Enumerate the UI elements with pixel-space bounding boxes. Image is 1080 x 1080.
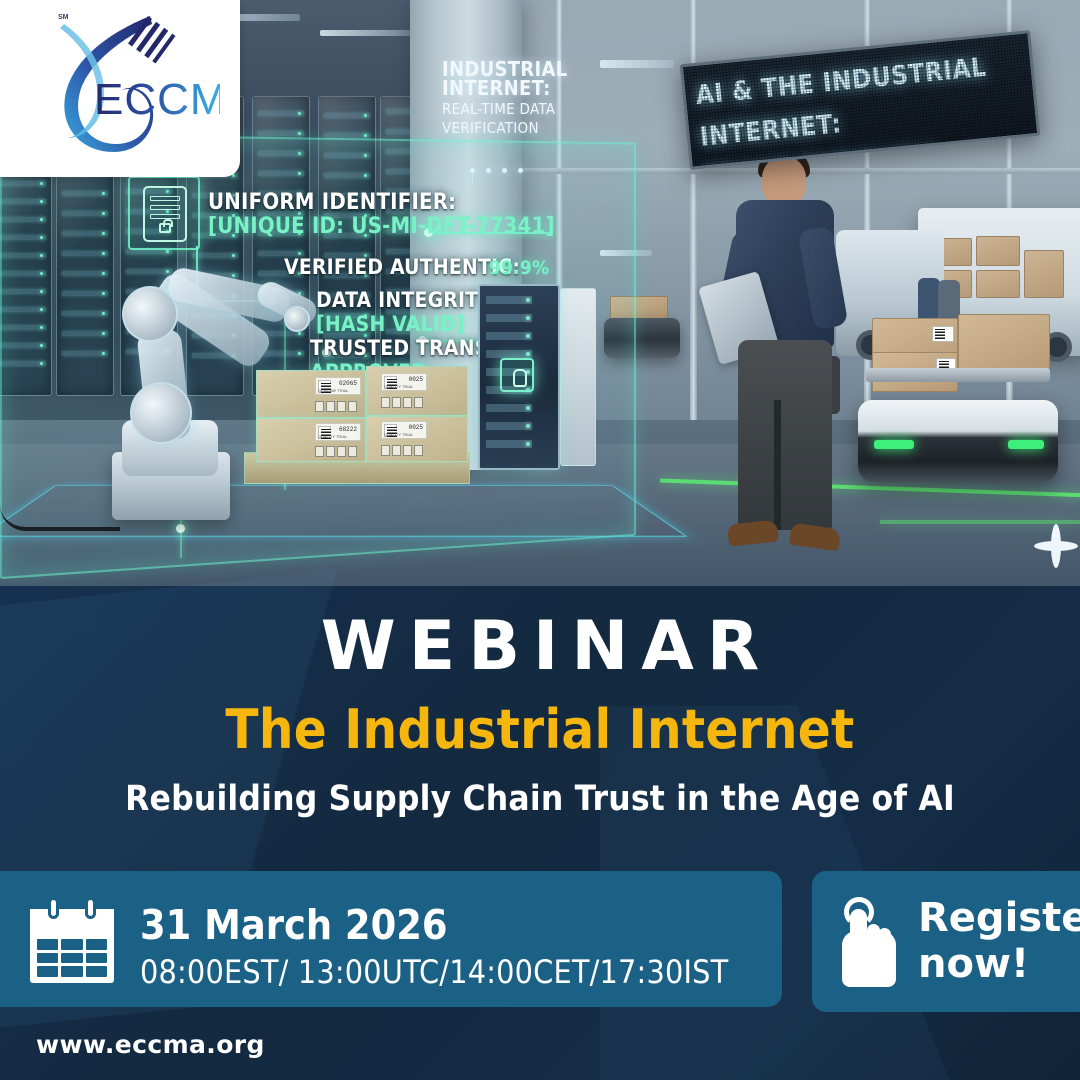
webinar-poster: INDUSTRIAL INTERNET: REAL-TIME DATA VERI… xyxy=(0,0,1080,1080)
ceiling-light xyxy=(600,60,674,68)
box-label-code: 68222 xyxy=(339,426,357,433)
server-tower-panel xyxy=(560,288,596,466)
cargo-box xyxy=(1024,250,1064,298)
pillar-sign-line2: INTERNET: xyxy=(442,79,562,98)
warehouse-worker xyxy=(722,150,872,570)
sparkle-icon xyxy=(1034,524,1078,568)
register-button-label: Register now! xyxy=(918,895,1080,987)
qr-code xyxy=(932,326,954,342)
security-lock-icon xyxy=(500,358,534,392)
svg-text:ECCMA: ECCMA xyxy=(94,75,220,124)
ceiling-light xyxy=(320,30,410,36)
pallet-box: 0025 QUALITY TRIAL xyxy=(366,416,468,462)
pallet-box: 68222 QUALITY TRIAL xyxy=(256,418,366,462)
pillar-sign: INDUSTRIAL INTERNET: REAL-TIME DATA VERI… xyxy=(442,60,562,136)
webinar-times: 08:00EST/ 13:00UTC/14:00CET/17:30IST xyxy=(140,953,728,991)
box-label: 68222 QUALITY TRIAL xyxy=(315,423,361,441)
led-banner-line1: AI & THE INDUSTRIAL INTERNET: xyxy=(694,43,1031,159)
pillar-sign-line3: REAL-TIME DATA xyxy=(442,101,562,117)
servicemark-icon: SM xyxy=(58,14,69,21)
ceiling-light xyxy=(600,250,652,256)
cargo-box xyxy=(976,270,1020,298)
eccma-logo-mark: ECCMA xyxy=(24,6,220,166)
pillar-sign-line4: VERIFICATION xyxy=(442,120,562,136)
page-title: The Industrial Internet xyxy=(0,698,1080,761)
box-label-code: 0025 xyxy=(409,376,423,383)
box-label: 0025 QUALITY TRIAL xyxy=(381,421,427,439)
power-cable xyxy=(0,505,120,531)
box-label-sub: QUALITY TRIAL xyxy=(384,432,413,437)
amr-pallet xyxy=(866,368,1050,382)
eccma-logo[interactable]: ECCMA SM xyxy=(0,0,240,177)
robot-arm-gripper xyxy=(284,306,310,332)
page-subtitle: Rebuilding Supply Chain Trust in the Age… xyxy=(0,779,1080,819)
register-label-line2: now! xyxy=(918,941,1080,987)
pallet-box: 02065 GENUINE TRIAL xyxy=(256,370,366,418)
date-time-bar: 31 March 2026 08:00EST/ 13:00UTC/14:00CE… xyxy=(0,871,782,1007)
webinar-date: 31 March 2026 xyxy=(140,901,448,949)
amr-box xyxy=(958,314,1050,370)
box-label-sub: QUALITY TRIAL xyxy=(384,384,413,389)
box-label: 0025 QUALITY TRIAL xyxy=(381,373,427,391)
click-hand-icon xyxy=(834,897,906,989)
register-now-button[interactable]: Register now! xyxy=(812,871,1080,1012)
pallet-box: 0025 QUALITY TRIAL xyxy=(366,366,468,416)
agv-robot xyxy=(604,318,680,358)
box-label-code: 0025 xyxy=(409,424,423,431)
box-label-sub: GENUINE TRIAL xyxy=(318,388,349,393)
box-label-code: 02065 xyxy=(339,380,357,387)
website-url[interactable]: www.eccma.org xyxy=(36,1030,265,1059)
cargo-box xyxy=(976,236,1020,266)
box-label: 02065 GENUINE TRIAL xyxy=(315,377,361,395)
calendar-icon xyxy=(30,897,114,983)
server-rack xyxy=(318,96,376,396)
amr-robot xyxy=(858,400,1058,482)
box-label-sub: QUALITY TRIAL xyxy=(318,434,347,439)
kicker-webinar: WEBINAR xyxy=(0,607,1080,686)
robot-arm-joint xyxy=(130,382,192,444)
register-label-line1: Register xyxy=(918,895,1080,941)
pillar-led-row xyxy=(470,168,523,173)
